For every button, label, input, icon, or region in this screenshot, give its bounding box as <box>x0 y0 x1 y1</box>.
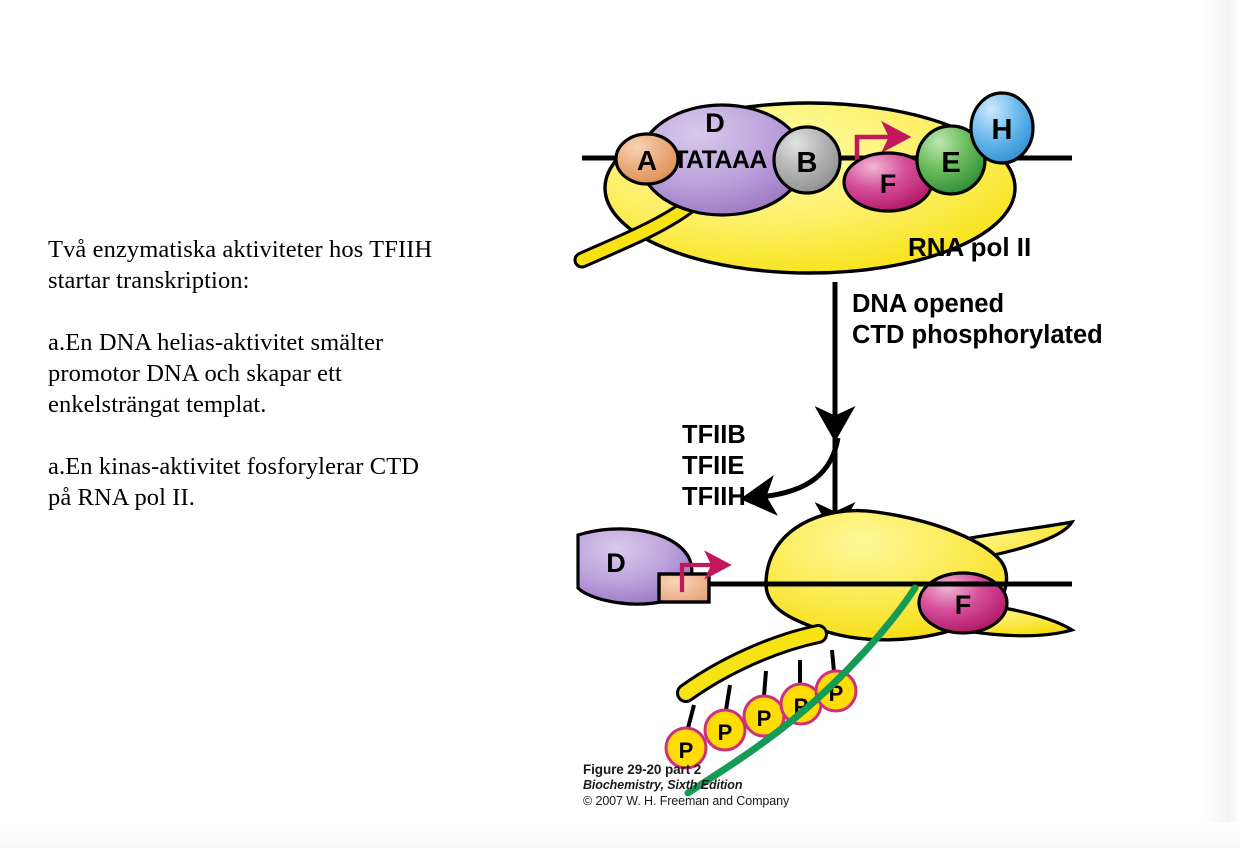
factor-f-bottom-label: F <box>955 590 972 620</box>
caption-figure-number: Figure 29-20 part 2 <box>583 762 913 778</box>
body-line-2: startar transkription: <box>48 265 518 296</box>
body-line-1: Två enzymatiska aktiviteter hos TFIIH <box>48 234 518 265</box>
factor-b-label: B <box>797 147 818 179</box>
released-factor-1: TFIIE <box>682 452 744 480</box>
factor-b: B <box>774 127 840 193</box>
step-text-line-2: CTD phosphorylated <box>852 321 1103 349</box>
figure-caption: Figure 29-20 part 2 Biochemistry, Sixth … <box>583 762 913 809</box>
caption-source-title: Biochemistry, Sixth Edition <box>583 778 913 793</box>
factor-h-label: H <box>992 114 1013 146</box>
slide-right-edge <box>1198 0 1240 848</box>
arrow-factor-release <box>760 438 838 497</box>
figure-29-20-part-2: TATAAA D A B F E H <box>560 60 1180 830</box>
factor-f-label: F <box>880 169 897 199</box>
factor-e-label: E <box>941 147 960 179</box>
factor-d-label: D <box>705 108 725 138</box>
factor-a: A <box>616 134 678 184</box>
body-line-4: promotor DNA och skapar ett <box>48 358 518 389</box>
top-preinitiation-complex: TATAAA D A B F E H <box>582 93 1072 273</box>
svg-text:P: P <box>718 720 733 745</box>
factor-d-bottom-label: D <box>606 548 626 578</box>
body-line-7: på RNA pol II. <box>48 482 518 513</box>
svg-text:P: P <box>757 706 772 731</box>
body-line-5: enkelsträngat templat. <box>48 389 518 420</box>
tata-box-label: TATAAA <box>673 146 767 174</box>
caption-copyright: © 2007 W. H. Freeman and Company <box>583 793 913 809</box>
step-text-line-1: DNA opened <box>852 290 1004 318</box>
factor-a-label: A <box>637 145 657 176</box>
bottom-elongation-complex: D F <box>578 511 1072 793</box>
released-factor-2: TFIIH <box>682 483 746 511</box>
body-line-3: a.En DNA helias-aktivitet smälter <box>48 327 518 358</box>
paragraph-gap-2 <box>48 420 518 451</box>
paragraph-gap-1 <box>48 296 518 327</box>
svg-text:P: P <box>679 738 694 763</box>
factor-h: H <box>971 93 1033 163</box>
transition-step-text: DNA opened CTD phosphorylated <box>852 290 1103 349</box>
slide-body-text: Två enzymatiska aktiviteter hos TFIIH st… <box>48 234 518 513</box>
released-factor-0: TFIIB <box>682 421 746 449</box>
transition-arrows <box>760 282 838 518</box>
body-line-6: a.En kinas-aktivitet fosforylerar CTD <box>48 451 518 482</box>
rna-pol-ii-label: RNA pol II <box>908 232 1031 262</box>
phosphate-circle: P <box>705 710 745 750</box>
released-factors-list: TFIIB TFIIE TFIIH <box>682 421 746 511</box>
